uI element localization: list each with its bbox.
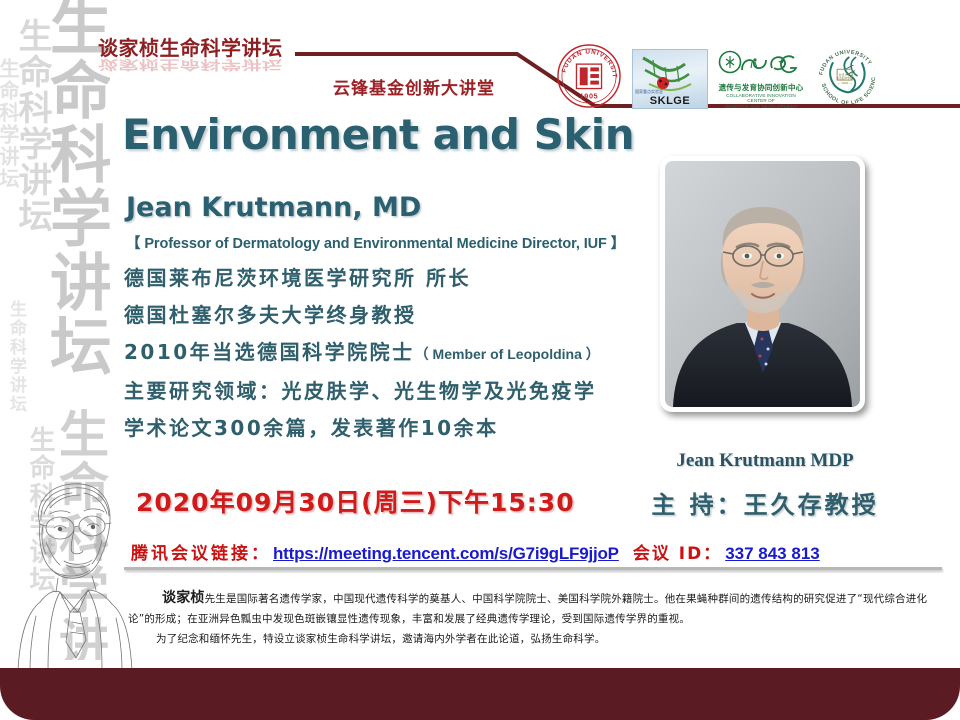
- meeting-id-label: 会议 ID：: [633, 539, 722, 564]
- meeting-info-row: 腾讯会议链接： https://meeting.tencent.com/s/G7…: [131, 539, 820, 564]
- credential-line: 主要研究领域：光皮肤学、光生物学及光免疫学: [124, 373, 684, 410]
- cicgd-english-line1: COLLABORATIVE INNOVATION CENTER OF: [718, 93, 804, 104]
- page-title: Environment and Skin: [122, 110, 634, 159]
- brand-title: 谈家桢生命科学讲坛: [98, 38, 328, 58]
- credentials-list: 德国莱布尼茨环境医学研究所 所长 德国杜塞尔多夫大学终身教授 2010年当选德国…: [124, 260, 684, 447]
- speaker-name: Jean Krutmann, MD: [126, 192, 421, 223]
- credential-line: 学术论文300余篇，发表著作10余本: [124, 410, 684, 447]
- cicgd-chinese-label: 遗传与发育协同创新中心: [718, 82, 804, 93]
- credential-paren: （ Member of Leopoldina ）: [415, 346, 600, 362]
- watermark-text: 生命科学讲坛: [4, 300, 29, 414]
- meeting-id-value[interactable]: 337 843 813: [725, 544, 820, 564]
- bio-lead-name: 谈家桢: [162, 590, 205, 606]
- credential-text: 主要研究领域：光皮肤学、光生物学及光免疫学: [124, 379, 597, 403]
- fudan-university-seal-icon: FUDAN UNIVERSITY 1905: [556, 43, 622, 114]
- meeting-link-label: 腾讯会议链接：: [131, 539, 271, 564]
- bio-paragraph-1: 谈家桢先生是国际著名遗传学家，中国现代遗传科学的奠基人、中国科学院院士、美国科学…: [128, 588, 940, 629]
- horizontal-divider: [124, 567, 942, 570]
- subbrand-title: 云锋基金创新大讲堂: [333, 74, 495, 99]
- credential-line: 德国杜塞尔多夫大学终身教授: [124, 297, 684, 334]
- bio-block: 谈家桢先生是国际著名遗传学家，中国现代遗传科学的奠基人、中国科学院院士、美国科学…: [128, 588, 940, 649]
- watermark-text: 生命科学讲坛: [8, 18, 57, 234]
- brand-title-reflection: 谈家桢生命科学讲坛: [98, 59, 328, 71]
- credential-text: 德国杜塞尔多夫大学终身教授: [124, 303, 417, 327]
- credential-text: 德国莱布尼茨环境医学研究所 所长: [124, 266, 471, 290]
- speaker-photo-frame: [660, 156, 865, 412]
- brand-block: 谈家桢生命科学讲坛 谈家桢生命科学讲坛: [98, 38, 328, 91]
- credential-text: 学术论文300余篇，发表著作10余本: [124, 416, 499, 440]
- bio-paragraph-2: 为了纪念和缅怀先生，特设立谈家桢生命科学讲坛，邀请海内外学者在此论道，弘扬生命科…: [128, 629, 940, 649]
- school-of-life-sciences-seal-icon: FUDAN UNIVERSITY SCHOOL OF LIFE SCIENCES…: [814, 42, 882, 115]
- credential-text: 2010年当选德国科学院院士: [124, 340, 415, 364]
- credential-line: 德国莱布尼茨环境医学研究所 所长: [124, 260, 684, 297]
- cicgd-english-line2: GENETICS AND DEVELOPMENT: [718, 104, 804, 110]
- cicgd-logo-icon: 遗传与发育协同创新中心 COLLABORATIVE INNOVATION CEN…: [718, 48, 804, 110]
- event-datetime: 2020年09月30日(周三)下午15:30: [136, 483, 575, 519]
- poster-root: 生命科学讲坛 生命科学讲坛 生命科学讲坛 生命科学讲坛 生命科学讲坛 生命科学讲…: [0, 0, 960, 720]
- tan-jiazhen-pencil-portrait-icon: [10, 466, 140, 670]
- photo-caption: Jean Krutmann MDP: [620, 450, 910, 472]
- svg-text:1905: 1905: [580, 91, 599, 100]
- host-line: 主 持：王久存教授: [620, 485, 910, 520]
- speaker-photo: [665, 161, 860, 407]
- svg-text:生命科学学院: 生命科学学院: [836, 76, 853, 80]
- watermark-text: 生命科学讲坛: [0, 58, 23, 190]
- credential-line: 2010年当选德国科学院院士（ Member of Leopoldina ）: [124, 334, 684, 373]
- bio-paragraph-1-text: 先生是国际著名遗传学家，中国现代遗传科学的奠基人、中国科学院院士、美国科学院外籍…: [128, 593, 927, 625]
- svg-text:— 1926 —: — 1926 —: [837, 81, 853, 85]
- bottom-maroon-band: [0, 668, 960, 720]
- meeting-url-link[interactable]: https://meeting.tencent.com/s/G7i9gLF9jj…: [273, 544, 619, 564]
- sklge-acronym: SKLGE: [633, 95, 707, 107]
- logo-strip: FUDAN UNIVERSITY 1905: [556, 42, 882, 115]
- sklge-logo-icon: 国家重点实验室 SKLGE: [632, 49, 708, 109]
- speaker-role: 【 Professor of Dermatology and Environme…: [126, 232, 625, 253]
